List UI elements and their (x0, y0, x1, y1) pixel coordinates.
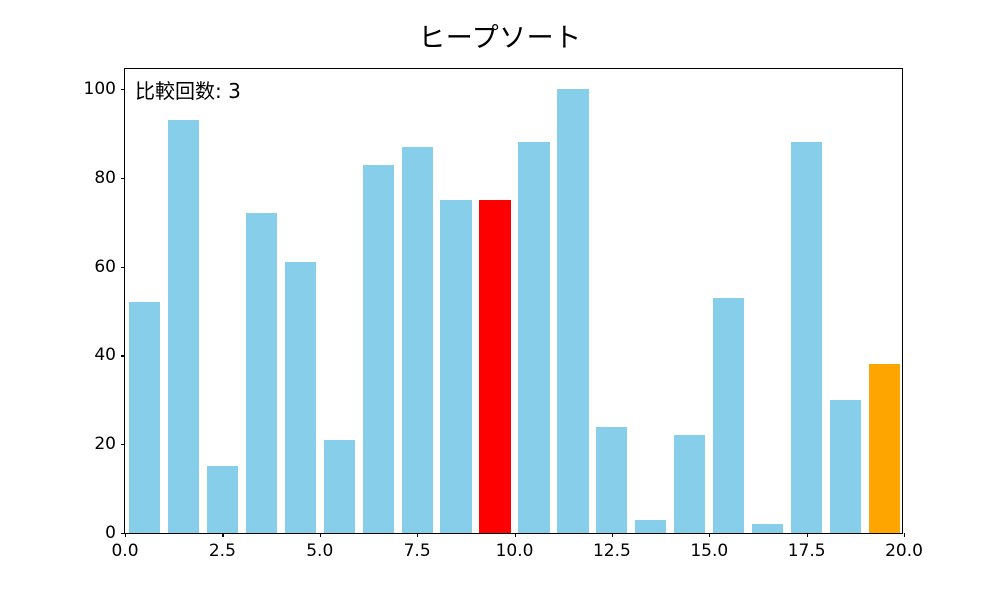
y-tick-label: 40 (94, 345, 116, 365)
x-tick-mark (125, 533, 126, 537)
bar (324, 440, 355, 533)
matplotlib-figure: ヒープソート 比較回数: 3 020406080100 0.02.55.07.5… (0, 0, 1000, 600)
x-tick-label: 17.5 (788, 541, 826, 561)
y-tick-label: 0 (105, 523, 116, 543)
x-tick-mark (222, 533, 223, 537)
x-tick-label: 10.0 (496, 541, 534, 561)
bar (129, 302, 160, 533)
bar (363, 165, 394, 533)
y-tick-label: 100 (84, 79, 116, 99)
y-tick-mark (121, 355, 125, 356)
bar (285, 262, 316, 533)
x-tick-mark (904, 533, 905, 537)
bar (713, 298, 744, 533)
x-tick-label: 20.0 (885, 541, 923, 561)
bar (830, 400, 861, 533)
x-tick-mark (709, 533, 710, 537)
x-tick-mark (417, 533, 418, 537)
y-tick-mark (121, 89, 125, 90)
x-tick-mark (807, 533, 808, 537)
bar (168, 120, 199, 533)
bar (596, 427, 627, 534)
y-tick-mark (121, 444, 125, 445)
y-tick-label: 20 (94, 434, 116, 454)
y-tick-mark (121, 267, 125, 268)
bar (674, 435, 705, 533)
plot-axes: 比較回数: 3 020406080100 0.02.55.07.510.012.… (124, 68, 903, 534)
bar-series (125, 69, 902, 533)
bar (518, 142, 549, 533)
bar (557, 89, 588, 533)
x-tick-mark (612, 533, 613, 537)
page-title: ヒープソート (0, 24, 1000, 54)
bar (479, 200, 510, 533)
bar (246, 213, 277, 533)
x-tick-mark (320, 533, 321, 537)
bar (440, 200, 471, 533)
x-tick-label: 7.5 (404, 541, 431, 561)
x-tick-mark (515, 533, 516, 537)
x-tick-label: 5.0 (306, 541, 333, 561)
x-tick-label: 0.0 (111, 541, 138, 561)
bar (635, 520, 666, 533)
bar (791, 142, 822, 533)
y-tick-label: 60 (94, 257, 116, 277)
x-tick-label: 12.5 (593, 541, 631, 561)
x-tick-label: 2.5 (209, 541, 236, 561)
y-tick-mark (121, 178, 125, 179)
bar (207, 466, 238, 533)
bar (402, 147, 433, 533)
bar (869, 364, 900, 533)
x-tick-label: 15.0 (690, 541, 728, 561)
bar (752, 524, 783, 533)
y-tick-label: 80 (94, 168, 116, 188)
